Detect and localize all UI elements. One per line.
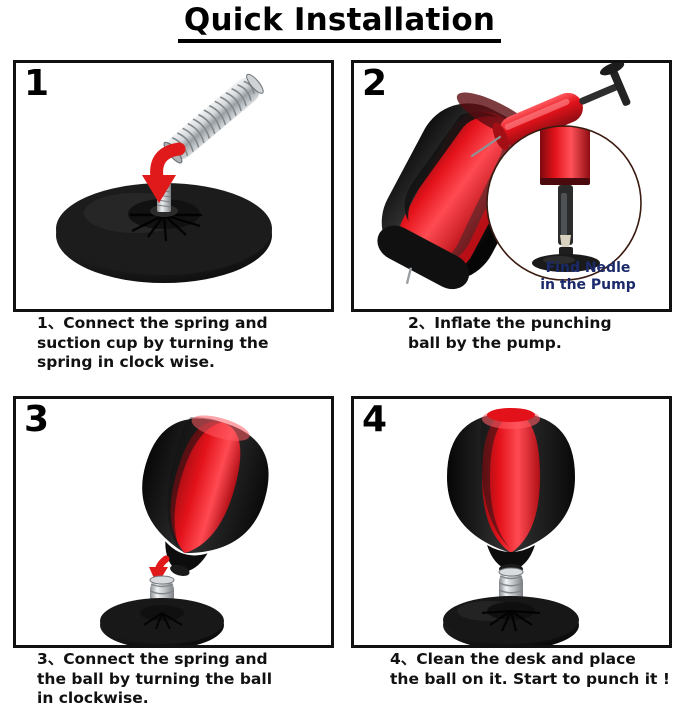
page-title: Quick Installation <box>178 0 501 43</box>
step-number-4: 4 <box>362 400 387 440</box>
step-caption-2: 2、Inflate the punching ball by the pump. <box>408 314 670 353</box>
find-needle-callout-label: Find Nedle in the Pump <box>508 260 668 294</box>
step-panel-2: 2 <box>351 60 672 312</box>
step-caption-1: 1、Connect the spring and suction cup by … <box>37 314 322 373</box>
inflated-ball-part <box>119 401 283 592</box>
step-panel-3: 3 <box>13 396 334 648</box>
step-caption-4: 4、Clean the desk and place the ball on i… <box>390 650 675 689</box>
step-number-3: 3 <box>24 400 49 440</box>
step-number-2: 2 <box>362 64 387 104</box>
step-panel-4: 4 <box>351 396 672 648</box>
page-header: Quick Installation <box>0 0 679 48</box>
step-caption-3: 3、Connect the spring and the ball by tur… <box>37 650 322 709</box>
spring-and-suction-cup-illustration <box>16 63 331 309</box>
suction-cup-part <box>443 596 579 645</box>
step-panel-1: 1 <box>13 60 334 312</box>
inflated-ball-part <box>447 408 575 574</box>
suction-cup-part <box>100 598 224 645</box>
assembled-punching-ball-illustration <box>354 399 669 645</box>
step-number-1: 1 <box>24 64 49 104</box>
attach-ball-to-spring-illustration <box>16 399 331 645</box>
